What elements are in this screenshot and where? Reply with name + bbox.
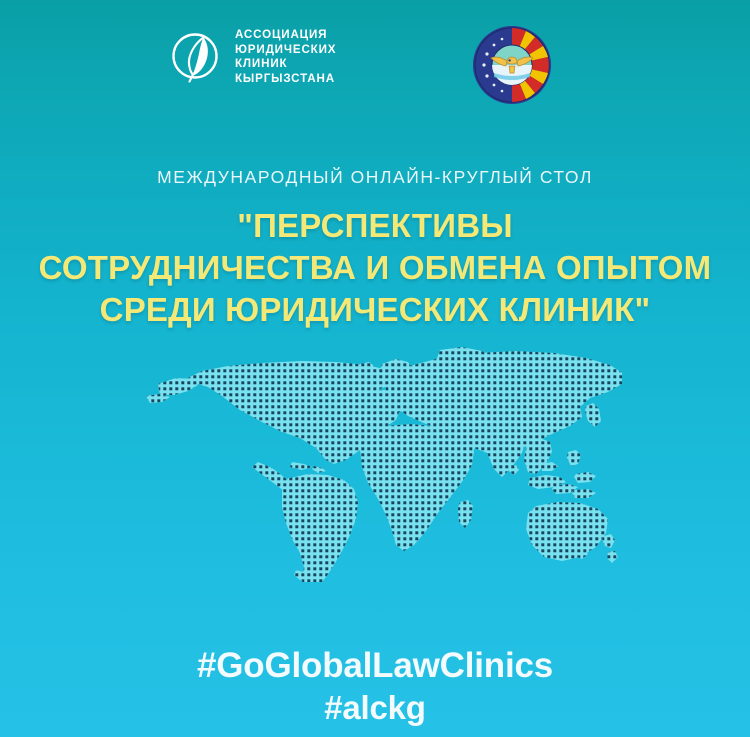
hashtag-block: #GoGlobalLawClinics #alckg	[0, 645, 750, 728]
page-kicker: МЕЖДУНАРОДНЫЙ ОНЛАЙН-КРУГЛЫЙ СТОЛ	[0, 167, 750, 188]
association-logo: АССОЦИАЦИЯ ЮРИДИЧЕСКИХ КЛИНИК КЫРГЫЗСТАН…	[166, 28, 336, 86]
logo-line-4: КЫРГЫЗСТАНА	[235, 72, 336, 87]
feather-in-circle-icon	[166, 28, 224, 86]
title-line-1: "ПЕРСПЕКТИВЫ	[0, 205, 750, 247]
page-title: "ПЕРСПЕКТИВЫ СОТРУДНИЧЕСТВА И ОБМЕНА ОПЫ…	[0, 205, 750, 331]
hashtag-secondary: #alckg	[0, 687, 750, 728]
dotted-world-map	[138, 344, 622, 582]
logo-line-3: КЛИНИК	[235, 57, 336, 72]
logo-line-2: ЮРИДИЧЕСКИХ	[235, 43, 336, 58]
logo-row: АССОЦИАЦИЯ ЮРИДИЧЕСКИХ КЛИНИК КЫРГЫЗСТАН…	[0, 24, 750, 116]
association-logo-text: АССОЦИАЦИЯ ЮРИДИЧЕСКИХ КЛИНИК КЫРГЫЗСТАН…	[235, 28, 336, 86]
state-emblem-icon	[471, 24, 553, 106]
title-line-2: СОТРУДНИЧЕСТВА И ОБМЕНА ОПЫТОМ	[0, 247, 750, 289]
title-line-3: СРЕДИ ЮРИДИЧЕСКИХ КЛИНИК"	[0, 289, 750, 331]
hashtag-primary: #GoGlobalLawClinics	[0, 645, 750, 687]
poster-canvas: АССОЦИАЦИЯ ЮРИДИЧЕСКИХ КЛИНИК КЫРГЫЗСТАН…	[0, 0, 750, 737]
logo-line-1: АССОЦИАЦИЯ	[235, 28, 336, 43]
